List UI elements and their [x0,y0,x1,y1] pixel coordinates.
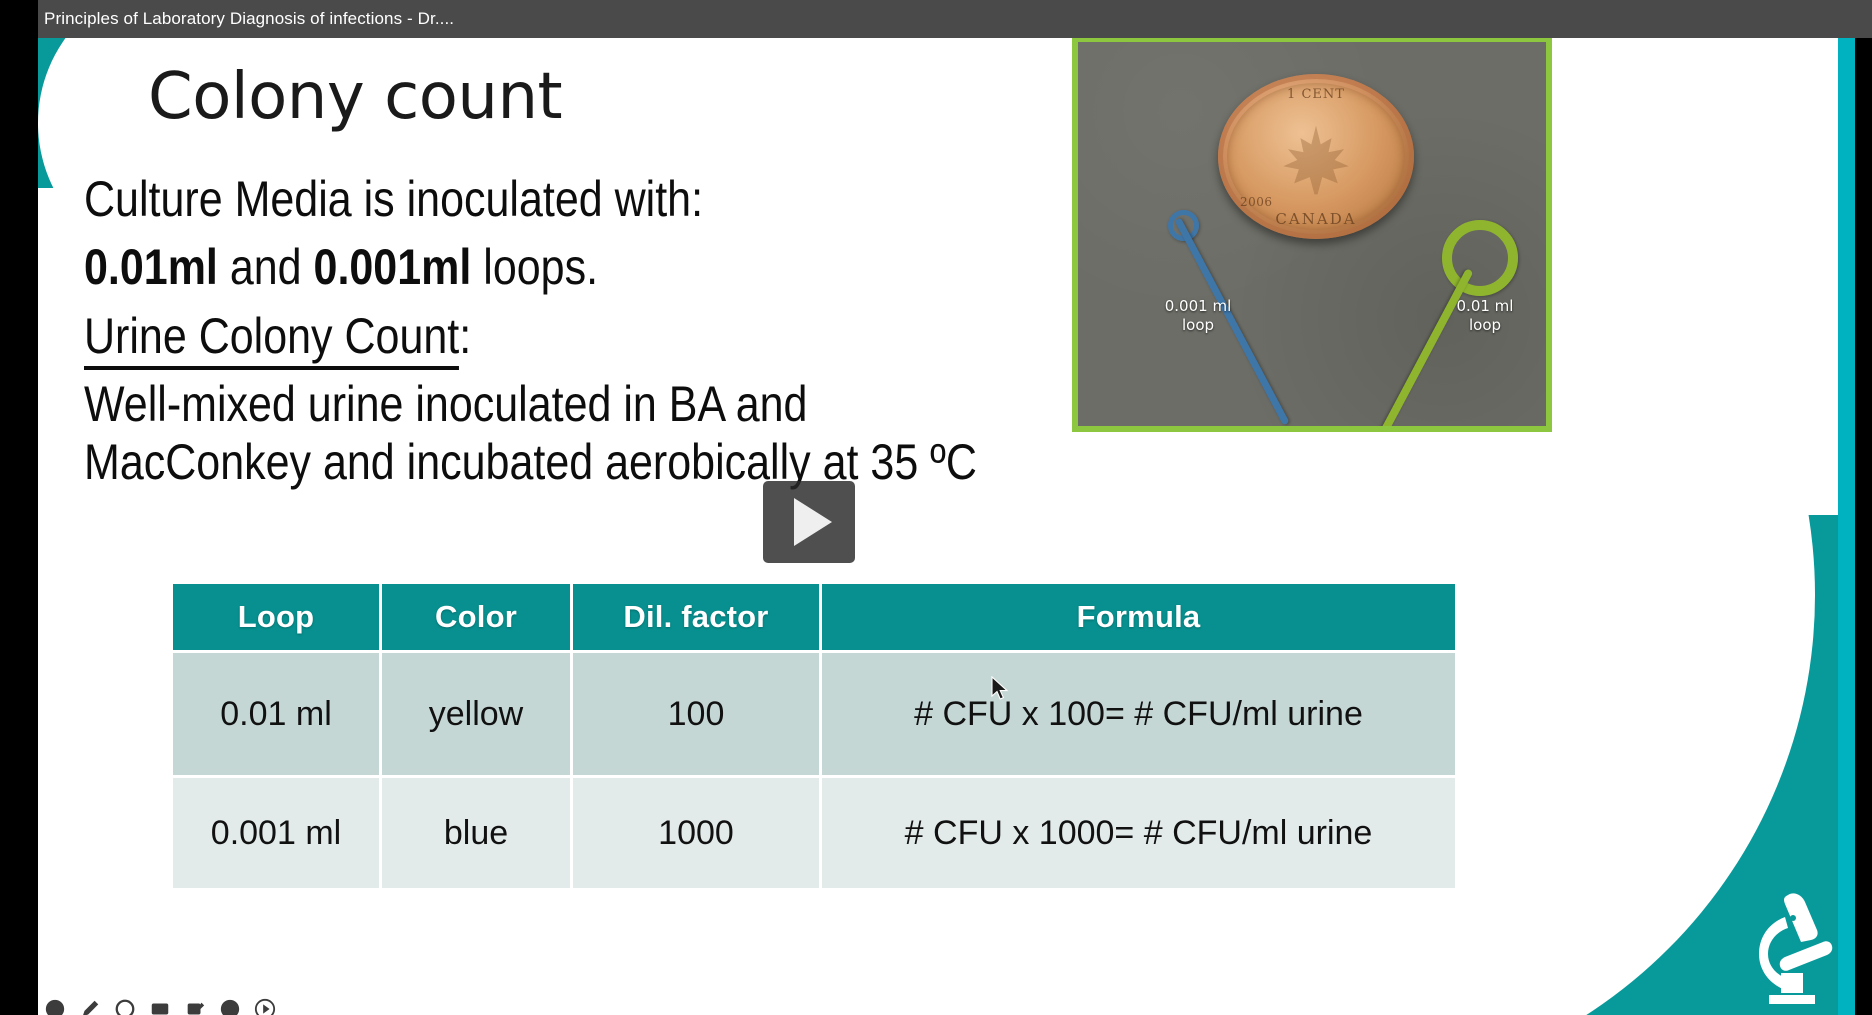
cell-formula-2: # CFU x 1000= # CFU/ml urine [822,778,1455,888]
th-loop: Loop [173,584,379,650]
loop-volume-1: 0.01ml [84,239,218,295]
table-row: 0.001 ml blue 1000 # CFU x 1000= # CFU/m… [173,778,1455,888]
loops-comparison-photo: 1 CENT 2006 CANADA 0.001 ml loop 0.01 ml… [1072,38,1552,432]
slide-canvas: Colony count Culture Media is inoculated… [38,38,1855,1015]
rectangle-icon[interactable] [149,998,171,1015]
circle-icon[interactable] [44,998,66,1015]
window-title: Principles of Laboratory Diagnosis of in… [44,0,454,38]
title-bar-left-pad [0,0,38,38]
conjunction: and [218,239,314,295]
slide-title: Colony count [148,60,562,134]
blue-loop-label-line1: 0.001 ml [1138,297,1258,316]
body-line-4: Well-mixed urine inoculated in BA and [84,378,807,431]
cell-dil-1: 100 [573,653,819,775]
play-icon [794,498,832,546]
th-formula: Formula [822,584,1455,650]
urine-colony-count-heading: Urine Colony Count [84,308,459,370]
table-row: 0.01 ml yellow 100 # CFU x 100= # CFU/ml… [173,653,1455,775]
th-dil-factor: Dil. factor [573,584,819,650]
maple-leaf-icon [1264,121,1369,199]
green-loop-label-line1: 0.01 ml [1430,297,1540,316]
th-color: Color [382,584,570,650]
green-loop-label: 0.01 ml loop [1430,297,1540,335]
green-loop-label-line2: loop [1430,316,1540,335]
circle-outline-icon[interactable] [254,998,276,1015]
bottom-toolbar[interactable] [44,995,276,1015]
cell-loop-2: 0.001 ml [173,778,379,888]
eraser-icon[interactable] [114,998,136,1015]
coin-year: 2006 [1240,195,1273,209]
body-line-1: Culture Media is inoculated with: [84,173,703,226]
table-header-row: Loop Color Dil. factor Formula [173,584,1455,650]
coin-bottom-text: CANADA [1275,210,1356,228]
pen-icon[interactable] [79,998,101,1015]
body-line-3: Urine Colony Count: [84,310,471,363]
cell-color-2: blue [382,778,570,888]
cell-color-1: yellow [382,653,570,775]
left-gutter [0,38,38,1015]
microscope-icon [1741,889,1837,1009]
decor-right-strip [1838,38,1855,1015]
loop-volume-2: 0.001ml [314,239,472,295]
canadian-penny: 1 CENT 2006 CANADA [1218,74,1414,239]
blue-loop-label: 0.001 ml loop [1138,297,1258,335]
play-button[interactable] [763,481,855,563]
note-icon[interactable] [184,998,206,1015]
blue-loop-label-line2: loop [1138,316,1258,335]
cell-formula-1: # CFU x 100= # CFU/ml urine [822,653,1455,775]
cell-loop-1: 0.01 ml [173,653,379,775]
mouse-cursor [991,676,1011,704]
coin-top-text: 1 CENT [1287,87,1345,102]
shape-icon[interactable] [219,998,241,1015]
window-title-bar: Principles of Laboratory Diagnosis of in… [0,0,1872,38]
cell-dil-2: 1000 [573,778,819,888]
green-loop-ring [1442,220,1518,296]
screen: Principles of Laboratory Diagnosis of in… [0,0,1872,1015]
loops-word: loops. [471,239,598,295]
body-line-2: 0.01ml and 0.001ml loops. [84,241,598,294]
colony-count-table: Loop Color Dil. factor Formula 0.01 ml y… [170,581,1458,891]
colon: : [459,308,471,364]
